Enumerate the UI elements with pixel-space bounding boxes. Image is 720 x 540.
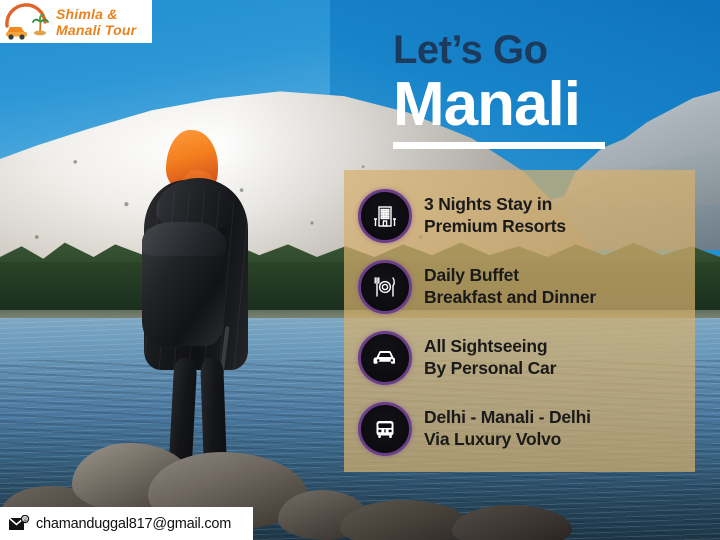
brand-logo[interactable]: Shimla & Manali Tour xyxy=(0,0,152,43)
logo-line-2: Manali Tour xyxy=(56,23,136,37)
feature-item-hotel: 3 Nights Stay in Premium Resorts xyxy=(352,189,697,243)
feature-car-line-2: By Personal Car xyxy=(424,358,556,379)
email-envelope-at-icon: @ xyxy=(8,515,30,533)
hotel-building-icon xyxy=(358,189,412,243)
feature-car-line-1: All Sightseeing xyxy=(424,336,556,357)
headline-block: Let’s Go Manali xyxy=(393,30,693,149)
logo-artwork-icon xyxy=(4,3,54,41)
car-icon xyxy=(358,331,412,385)
feature-text-bus: Delhi - Manali - Delhi Via Luxury Volvo xyxy=(424,407,591,450)
headline-manali: Manali xyxy=(393,74,693,136)
feature-buffet-line-1: Daily Buffet xyxy=(424,265,596,286)
feature-item-bus: Delhi - Manali - Delhi Via Luxury Volvo xyxy=(352,402,697,456)
email-address[interactable]: chamanduggal817@gmail.com xyxy=(36,516,231,532)
feature-bus-line-1: Delhi - Manali - Delhi xyxy=(424,407,591,428)
feature-hotel-line-2: Premium Resorts xyxy=(424,216,566,237)
feature-item-car: All Sightseeing By Personal Car xyxy=(352,331,697,385)
feature-text-buffet: Daily Buffet Breakfast and Dinner xyxy=(424,265,596,308)
person-figure xyxy=(120,130,270,490)
logo-wordmark: Shimla & Manali Tour xyxy=(56,7,136,37)
feature-buffet-line-2: Breakfast and Dinner xyxy=(424,287,596,308)
bus-icon xyxy=(358,402,412,456)
headline-underline xyxy=(393,142,605,149)
contact-footer[interactable]: @ chamanduggal817@gmail.com xyxy=(0,507,253,540)
feature-hotel-line-1: 3 Nights Stay in xyxy=(424,194,566,215)
poster-canvas: Shimla & Manali Tour Let’s Go Manali xyxy=(0,0,720,540)
feature-text-car: All Sightseeing By Personal Car xyxy=(424,336,556,379)
headline-lets-go: Let’s Go xyxy=(393,30,693,70)
feature-bus-line-2: Via Luxury Volvo xyxy=(424,429,591,450)
feature-item-buffet: Daily Buffet Breakfast and Dinner xyxy=(352,260,697,314)
restaurant-cutlery-icon xyxy=(358,260,412,314)
svg-text:@: @ xyxy=(22,517,27,523)
logo-line-1: Shimla & xyxy=(56,7,136,21)
backpack-roll-top xyxy=(142,222,226,256)
feature-text-hotel: 3 Nights Stay in Premium Resorts xyxy=(424,194,566,237)
features-list: 3 Nights Stay in Premium Resorts Daily B… xyxy=(352,176,697,468)
orange-car-icon xyxy=(6,27,27,40)
logo-mark xyxy=(4,3,54,41)
